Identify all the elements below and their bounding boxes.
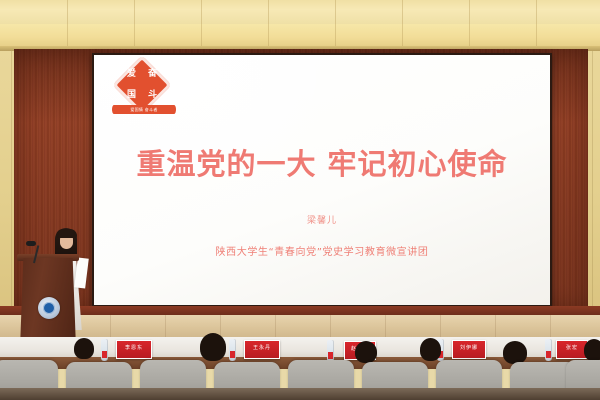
auditorium-scene: 爱 奋 国 斗 爱国情 奋斗者 重温党的一大 牢记初心使命 梁馨儿 陕西大学生“… [0, 0, 600, 400]
audience-head [200, 333, 226, 361]
name-card: 王永丹 [244, 340, 280, 359]
audience-head [503, 341, 527, 364]
logo-ribbon-text: 爱国情 奋斗者 [112, 105, 176, 114]
water-bottle [229, 339, 236, 361]
upper-wall-panels [0, 24, 600, 46]
speaker-hair-front [56, 229, 77, 238]
slide-presenter-name: 梁馨儿 [94, 213, 550, 226]
name-card: 李恩东 [116, 340, 152, 359]
microphone-head-icon [26, 241, 36, 246]
audience-head [355, 341, 377, 363]
name-card-label: 李恩东 [117, 341, 151, 356]
audience-head [584, 339, 600, 361]
logo-char-2: 奋 [148, 70, 157, 79]
audience-head [420, 338, 441, 361]
ceiling-panels [0, 0, 600, 24]
name-card-label: 刘伊娜 [453, 341, 485, 356]
university-emblem-center [43, 302, 55, 314]
name-card-label: 王永丹 [245, 341, 279, 356]
logo-char-3: 国 [127, 91, 136, 100]
name-card-label: 张宏 [557, 341, 587, 356]
slide-title: 重温党的一大 牢记初心使命 [94, 141, 550, 183]
water-bottle [545, 339, 552, 361]
water-bottle [327, 340, 334, 362]
aiguo-fendou-logo-icon: 爱 奋 国 斗 爱国情 奋斗者 [112, 64, 176, 116]
logo-char-1: 爱 [127, 70, 136, 79]
audience-head [74, 338, 94, 359]
logo-characters: 爱 奋 国 斗 [121, 64, 163, 106]
logo-char-4: 斗 [148, 91, 157, 100]
slide-organization: 陕西大学生“青春向党”党史学习教育微宣讲团 [94, 243, 550, 258]
projection-screen: 爱 奋 国 斗 爱国情 奋斗者 重温党的一大 牢记初心使命 梁馨儿 陕西大学生“… [94, 55, 550, 305]
stage-floor [0, 315, 600, 337]
front-row-bench [0, 388, 600, 400]
stage-front-band [0, 306, 600, 315]
water-bottle [101, 339, 108, 361]
projection-screen-frame: 爱 奋 国 斗 爱国情 奋斗者 重温党的一大 牢记初心使命 梁馨儿 陕西大学生“… [92, 53, 552, 307]
name-card: 刘伊娜 [452, 340, 486, 359]
